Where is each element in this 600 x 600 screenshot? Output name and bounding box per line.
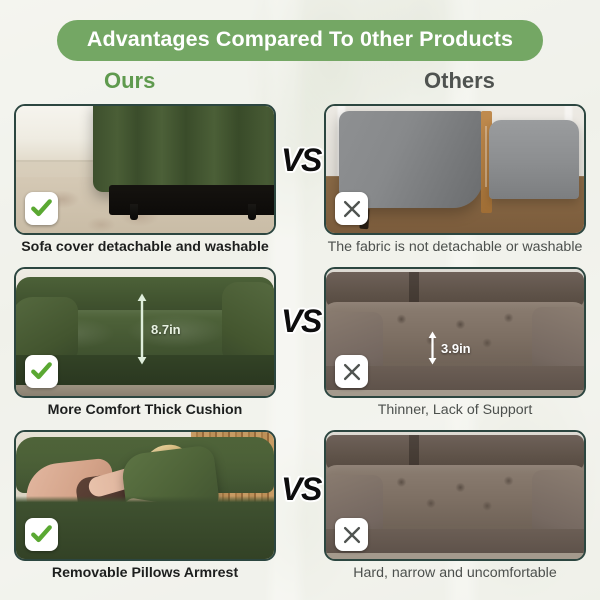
check-icon bbox=[30, 360, 53, 383]
row-1-others-photo bbox=[324, 104, 586, 235]
column-heading-ours: Ours bbox=[104, 65, 155, 97]
row-3-ours-caption: Removable Pillows Armrest bbox=[14, 563, 276, 583]
row-1-ours-caption: Sofa cover detachable and washable bbox=[14, 237, 276, 257]
header-banner-title: Advantages Compared To 0ther Products bbox=[57, 20, 543, 61]
cross-badge bbox=[335, 518, 368, 551]
row-3-others-caption: Hard, narrow and uncomfortable bbox=[324, 563, 586, 583]
vs-marker-3: VS bbox=[278, 473, 324, 505]
check-badge bbox=[25, 192, 58, 225]
check-badge bbox=[25, 518, 58, 551]
row-2-others-measure-label: 3.9in bbox=[441, 341, 471, 356]
row-2-ours-caption: More Comfort Thick Cushion bbox=[14, 400, 276, 420]
cross-badge bbox=[335, 192, 368, 225]
row-1-ours-cell: Sofa cover detachable and washable bbox=[14, 104, 276, 235]
cross-badge bbox=[335, 355, 368, 388]
row-1-others-cell: The fabric is not detachable or washable bbox=[324, 104, 586, 235]
row-2-ours-measure-label: 8.7in bbox=[151, 322, 181, 337]
comparison-rows: Sofa cover detachable and washable VS bbox=[0, 104, 600, 593]
x-icon bbox=[341, 524, 363, 546]
row-3-others-cell: Hard, narrow and uncomfortable bbox=[324, 430, 586, 561]
row-2-ours-photo: 8.7in bbox=[14, 267, 276, 398]
double-arrow-vertical-icon bbox=[427, 331, 438, 365]
double-arrow-vertical-icon bbox=[136, 293, 148, 365]
row-1-ours-photo bbox=[14, 104, 276, 235]
row-3-ours-photo bbox=[14, 430, 276, 561]
check-badge bbox=[25, 355, 58, 388]
row-2-ours-cell: 8.7in More Comfort Thick Cushion bbox=[14, 267, 276, 398]
row-2-others-photo: 3.9in bbox=[324, 267, 586, 398]
row-3-ours-cell: Removable Pillows Armrest bbox=[14, 430, 276, 561]
comparison-row-2: 8.7in More Comfort Thick Cushion VS bbox=[0, 267, 600, 430]
comparison-row-3: Removable Pillows Armrest VS bbox=[0, 430, 600, 593]
row-3-others-photo bbox=[324, 430, 586, 561]
column-heading-others: Others bbox=[424, 65, 495, 97]
row-2-others-cell: 3.9in Thinner, Lack of Support bbox=[324, 267, 586, 398]
x-icon bbox=[341, 361, 363, 383]
vs-marker-1: VS bbox=[278, 144, 324, 176]
comparison-infographic: Advantages Compared To 0ther Products Ou… bbox=[0, 0, 600, 600]
row-1-others-caption: The fabric is not detachable or washable bbox=[324, 237, 586, 257]
row-2-others-dimension: 3.9in bbox=[427, 331, 471, 365]
header-banner-wrapper: Advantages Compared To 0ther Products bbox=[0, 20, 600, 61]
row-2-ours-dimension: 8.7in bbox=[136, 293, 181, 365]
row-2-others-caption: Thinner, Lack of Support bbox=[324, 400, 586, 420]
column-headings: Ours Others bbox=[0, 65, 600, 97]
check-icon bbox=[30, 523, 53, 546]
check-icon bbox=[30, 197, 53, 220]
x-icon bbox=[341, 198, 363, 220]
vs-marker-2: VS bbox=[278, 305, 324, 337]
comparison-row-1: Sofa cover detachable and washable VS bbox=[0, 104, 600, 267]
